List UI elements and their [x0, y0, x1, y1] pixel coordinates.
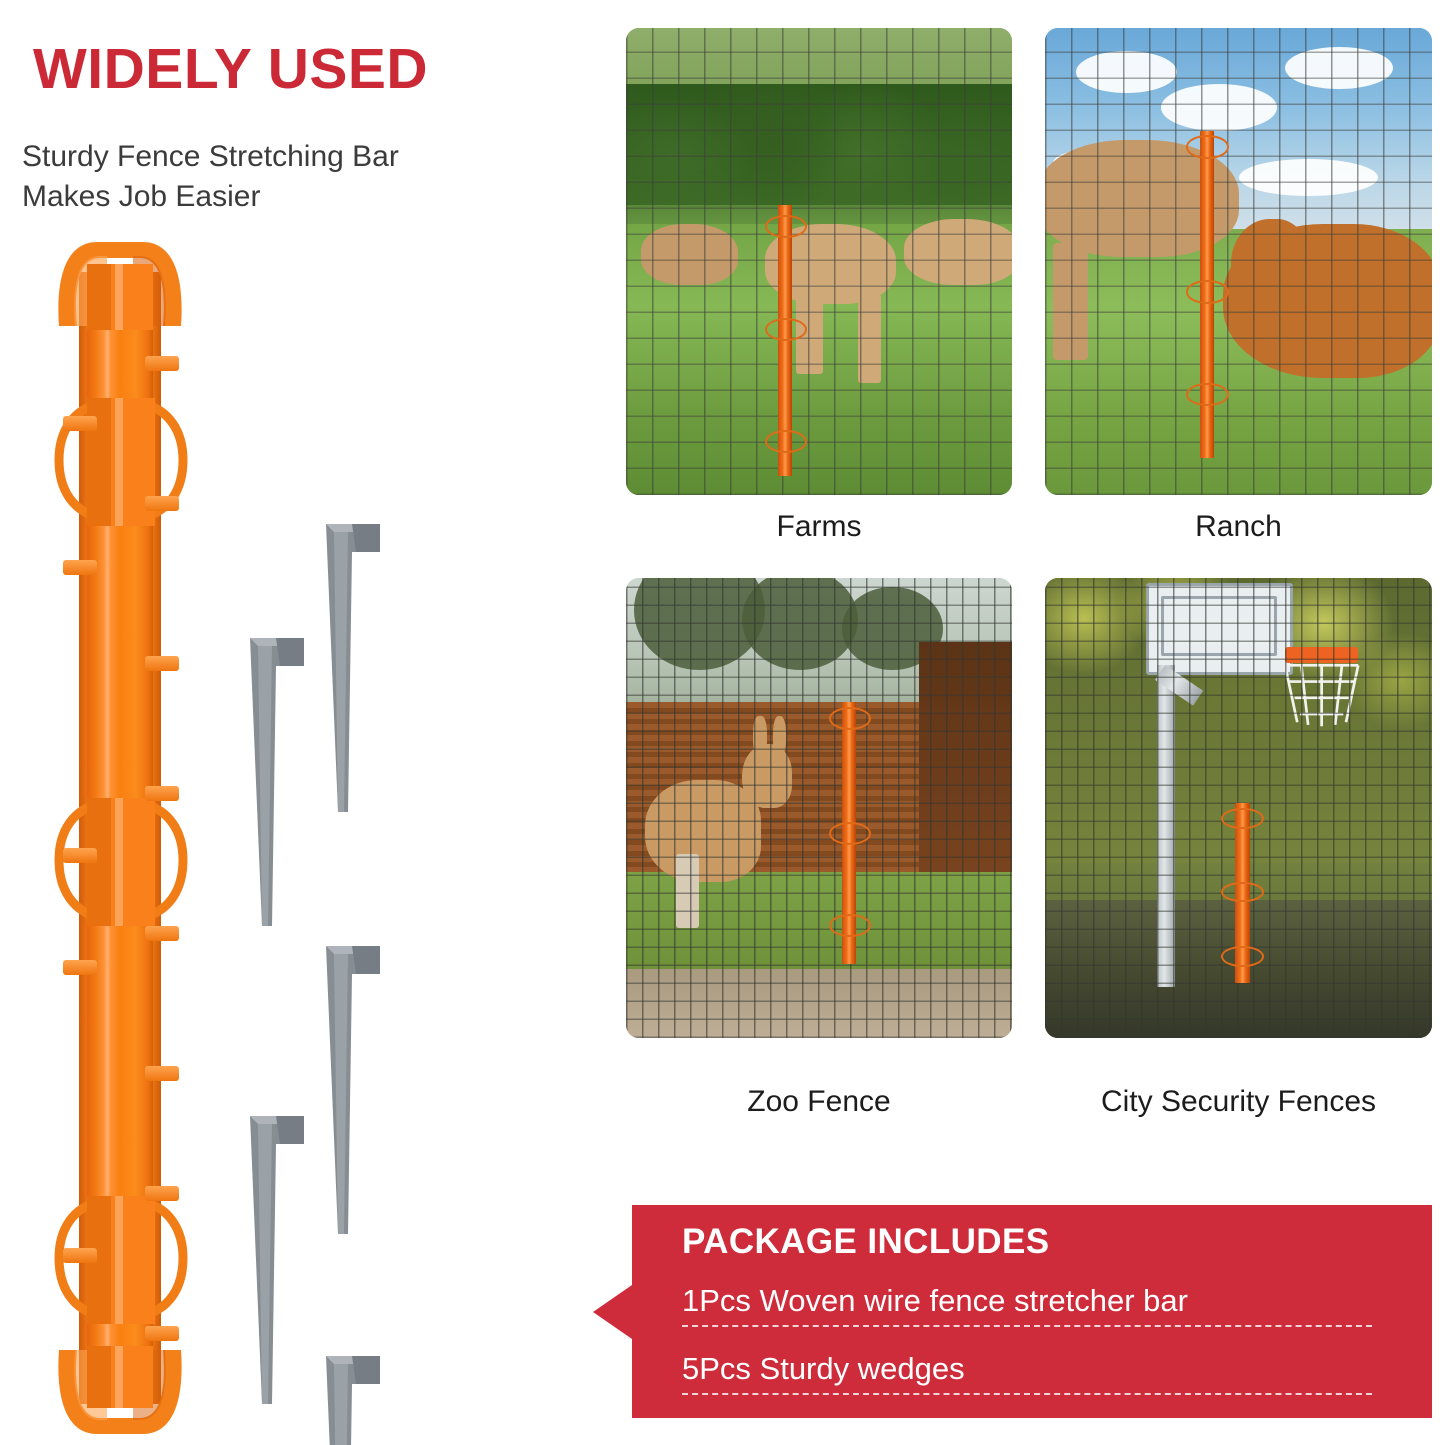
wedge-slot-tab [63, 848, 97, 863]
photo-card-farms[interactable] [626, 28, 1012, 495]
wedge-2 [246, 630, 314, 930]
package-item-2-text: 5Pcs Sturdy wedges [682, 1350, 1372, 1387]
package-item-2-divider [682, 1393, 1372, 1395]
photo-card-city[interactable] [1045, 578, 1432, 1038]
infographic-page: WIDELY USED Sturdy Fence Stretching Bar … [0, 0, 1445, 1445]
photo-card-zoo[interactable] [626, 578, 1012, 1038]
photo-image-city [1045, 578, 1432, 1038]
package-item-2: 5Pcs Sturdy wedges [682, 1350, 1372, 1395]
photo-image-farms [626, 28, 1012, 495]
photo-image-ranch [1045, 28, 1432, 495]
wedge-slot-tab [63, 1248, 97, 1263]
product-illustration [0, 230, 430, 1445]
wedge-slot-tab [63, 560, 97, 575]
wedge-slot-tab [145, 496, 179, 511]
photo-caption-zoo: Zoo Fence [626, 1085, 1012, 1119]
page-subtitle: Sturdy Fence Stretching Bar Makes Job Ea… [22, 137, 542, 217]
photo-caption-ranch: Ranch [1045, 510, 1432, 544]
photo-card-ranch[interactable] [1045, 28, 1432, 495]
wedge-slot-tab [145, 1066, 179, 1081]
wedge-slot-tab [145, 1326, 179, 1341]
wedge-slot-tab [63, 416, 97, 431]
wedge-slot-tab [145, 1186, 179, 1201]
bar-bottom-loop [45, 1346, 195, 1438]
page-title: WIDELY USED [33, 40, 428, 100]
subtitle-line-2: Makes Job Easier [22, 177, 542, 217]
subtitle-line-1: Sturdy Fence Stretching Bar [22, 137, 542, 177]
bar-top-loop [45, 238, 195, 330]
banner-arrow-notch [593, 1285, 632, 1339]
package-includes-banner: PACKAGE INCLUDES 1Pcs Woven wire fence s… [632, 1205, 1432, 1418]
wedge-slot-tab [63, 960, 97, 975]
wedge-set [232, 468, 412, 1445]
wedge-slot-tab [145, 656, 179, 671]
photo-image-zoo [626, 578, 1012, 1038]
package-item-1: 1Pcs Woven wire fence stretcher bar [682, 1282, 1372, 1327]
package-item-1-divider [682, 1325, 1372, 1327]
package-item-1-text: 1Pcs Woven wire fence stretcher bar [682, 1282, 1372, 1319]
package-includes-title: PACKAGE INCLUDES [682, 1222, 1049, 1262]
photo-caption-farms: Farms [626, 510, 1012, 544]
wedge-slot-tab [145, 786, 179, 801]
wedge-3 [322, 938, 390, 1238]
wedge-slot-tab [145, 356, 179, 371]
wedge-5 [322, 1348, 390, 1445]
wedge-slot-tab [145, 926, 179, 941]
fence-stretcher-bar [45, 238, 195, 1438]
wedge-1 [322, 516, 390, 816]
photo-caption-city: City Security Fences [1045, 1085, 1432, 1119]
wedge-4 [246, 1108, 314, 1408]
